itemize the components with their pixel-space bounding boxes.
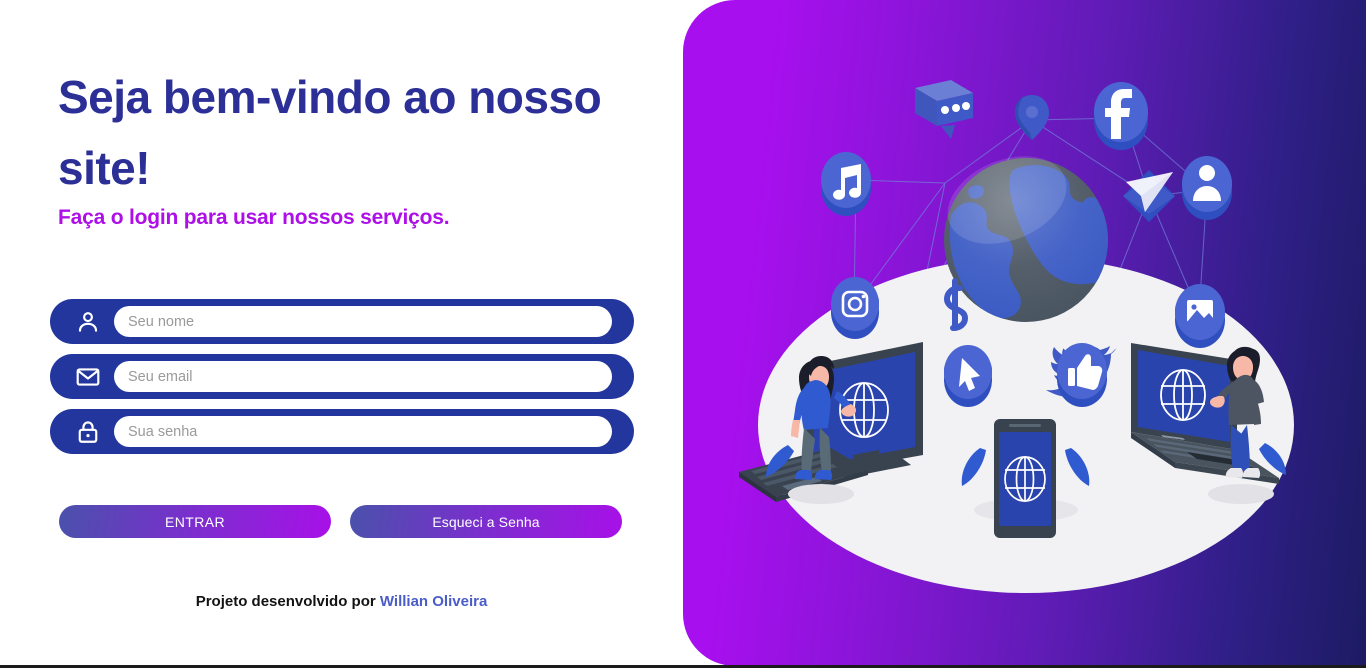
- page-subtitle: Faça o login para usar nossos serviços.: [58, 206, 449, 230]
- telegram-send-icon: [1123, 170, 1175, 222]
- page-title: Seja bem-vindo ao nosso site!: [58, 62, 638, 205]
- envelope-icon: [62, 354, 114, 399]
- name-field-row[interactable]: [50, 299, 634, 344]
- user-icon: [62, 299, 114, 344]
- login-page: Seja bem-vindo ao nosso site! Faça o log…: [0, 0, 1366, 668]
- credit-prefix: Projeto desenvolvido por: [196, 593, 380, 610]
- email-field-row[interactable]: [50, 354, 634, 399]
- lock-icon: [62, 409, 114, 454]
- thumbs-up-icon: [1057, 343, 1107, 407]
- user-avatar-icon: [1182, 156, 1232, 220]
- author-link[interactable]: Willian Oliveira: [380, 593, 487, 610]
- music-note-icon: [821, 152, 871, 216]
- password-input[interactable]: [114, 416, 612, 447]
- email-input[interactable]: [114, 361, 612, 392]
- illustration-pane: [683, 0, 1366, 666]
- password-field-row[interactable]: [50, 409, 634, 454]
- cursor-play-icon: [944, 345, 992, 407]
- image-gallery-icon: [1175, 284, 1225, 348]
- location-pin-icon: [1015, 95, 1049, 140]
- social-network-illustration: [683, 0, 1366, 666]
- name-input[interactable]: [114, 306, 612, 337]
- forgot-password-button[interactable]: Esqueci a Senha: [350, 505, 622, 538]
- login-form-pane: Seja bem-vindo ao nosso site! Faça o log…: [0, 0, 683, 668]
- chat-bubble-icon: [915, 80, 973, 139]
- instagram-camera-icon: [831, 277, 879, 339]
- footer-credit: Projeto desenvolvido por Willian Oliveir…: [0, 593, 683, 610]
- login-form: [50, 299, 634, 464]
- login-button[interactable]: ENTRAR: [59, 505, 331, 538]
- facebook-icon: [1094, 82, 1148, 150]
- action-buttons: ENTRAR Esqueci a Senha: [59, 505, 622, 538]
